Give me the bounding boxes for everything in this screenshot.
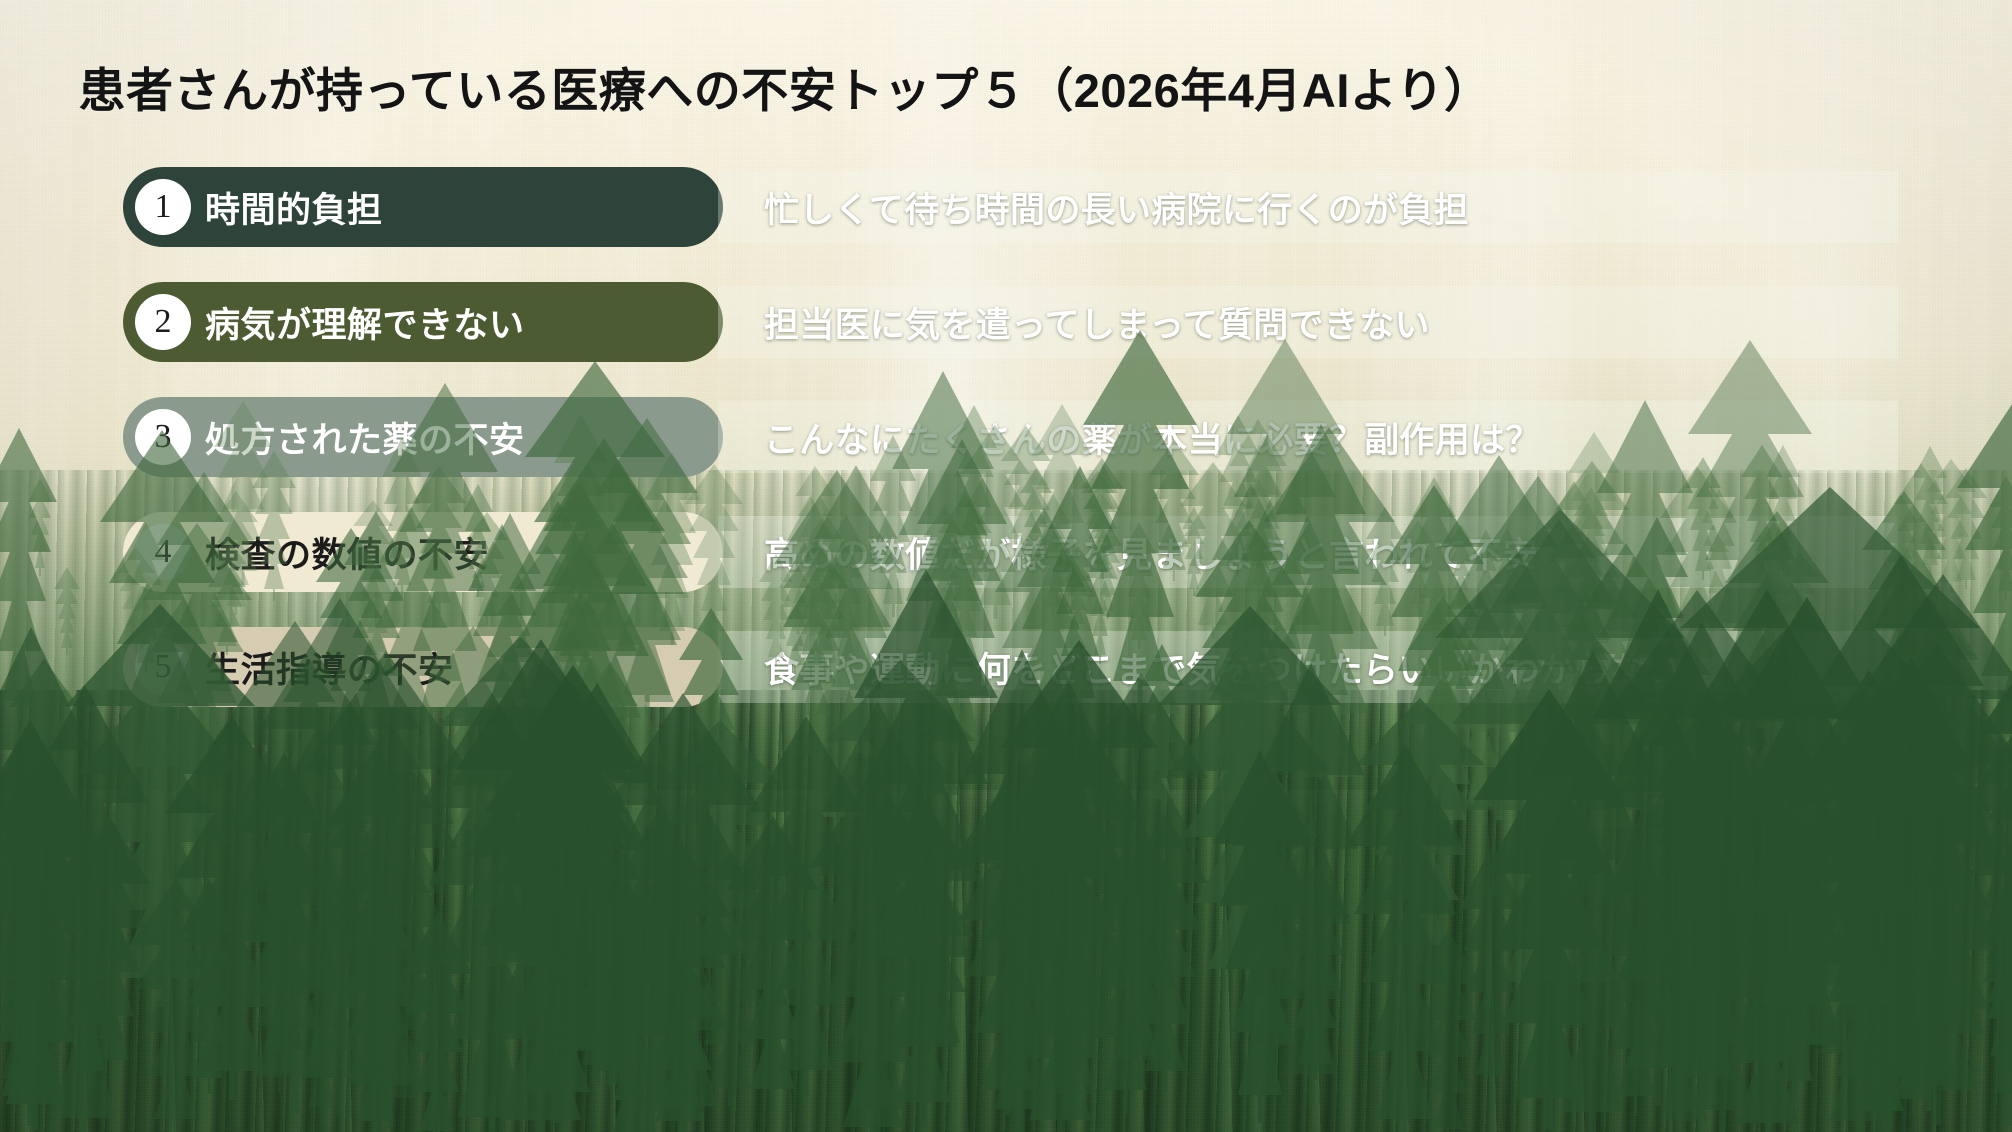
rank-number-2: 2	[135, 294, 191, 350]
rank-desc-1: 忙しくて待ち時間の長い病院に行くのが負担	[718, 182, 1469, 233]
rank-desc-panel-1: 忙しくて待ち時間の長い病院に行くのが負担	[718, 171, 1898, 243]
list-item[interactable]: 1 時間的負担 忙しくて待ち時間の長い病院に行くのが負担	[0, 167, 2012, 247]
slide-canvas: 患者さんが持っている医療への不安トップ５（2026年4月AIより） 1 時間的負…	[0, 0, 2012, 1132]
rank-number-1: 1	[135, 179, 191, 235]
rank-label-1[interactable]: 1 時間的負担	[123, 167, 723, 247]
rank-label-2[interactable]: 2 病気が理解できない	[123, 282, 723, 362]
rank-title-2: 病気が理解できない	[205, 297, 525, 348]
page-title: 患者さんが持っている医療への不安トップ５（2026年4月AIより）	[0, 52, 1570, 121]
rank-title-1: 時間的負担	[205, 182, 383, 233]
